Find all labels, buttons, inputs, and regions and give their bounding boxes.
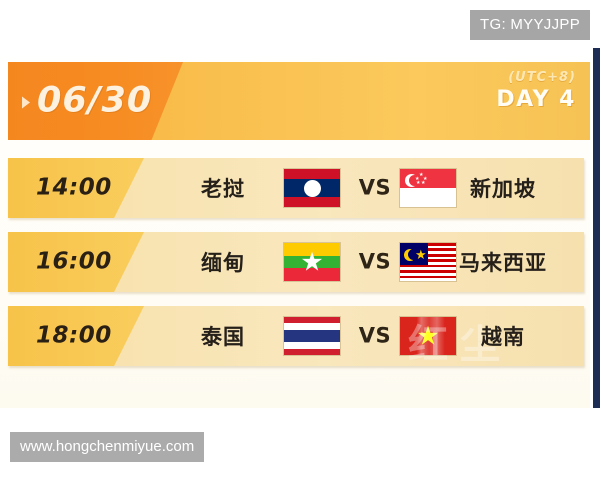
match-time-label: 16:00 xyxy=(36,251,112,274)
header-date-group: 06/30 xyxy=(22,84,152,119)
home-team-name: 泰国 xyxy=(168,321,278,351)
vs-label: VS xyxy=(353,326,397,347)
table-row[interactable]: 16:00 缅甸 ★ VS ★ xyxy=(8,232,584,292)
home-team-name: 缅甸 xyxy=(168,247,278,277)
table-row[interactable]: 14:00 老挝 VS ★ ★ ★ ★ ★ 新加 xyxy=(8,158,584,218)
card-right-navy-edge xyxy=(593,48,600,408)
away-team-name: 越南 xyxy=(438,321,568,351)
header-timezone-label: (UTC+8) xyxy=(496,70,576,86)
table-row[interactable]: 18:00 泰国 VS ★ 红尘 越南 xyxy=(8,306,584,366)
laos-flag-icon xyxy=(284,169,340,207)
away-team-name: 新加坡 xyxy=(438,173,568,203)
vs-label: VS xyxy=(353,252,397,273)
header-date-label: 06/30 xyxy=(37,84,152,119)
header-right-group: (UTC+8) DAY 4 xyxy=(496,70,576,113)
telegram-watermark-badge: TG: MYYJJPP xyxy=(470,10,590,40)
header-day-label: DAY 4 xyxy=(496,86,576,114)
vs-label: VS xyxy=(353,178,397,199)
match-rows-container: 14:00 老挝 VS ★ ★ ★ ★ ★ 新加 xyxy=(8,158,584,380)
home-team-name: 老挝 xyxy=(168,173,278,203)
match-time-label: 18:00 xyxy=(36,325,112,348)
myanmar-flag-icon: ★ xyxy=(284,243,340,281)
schedule-poster-card: 06/30 (UTC+8) DAY 4 14:00 老挝 VS xyxy=(0,48,600,408)
thailand-flag-icon xyxy=(284,317,340,355)
site-watermark-badge: www.hongchenmiyue.com xyxy=(10,432,204,462)
triangle-right-icon xyxy=(22,96,30,108)
away-team-name: 马来西亚 xyxy=(438,247,568,277)
match-time-label: 14:00 xyxy=(36,177,112,200)
poster-header: 06/30 (UTC+8) DAY 4 xyxy=(8,62,592,140)
